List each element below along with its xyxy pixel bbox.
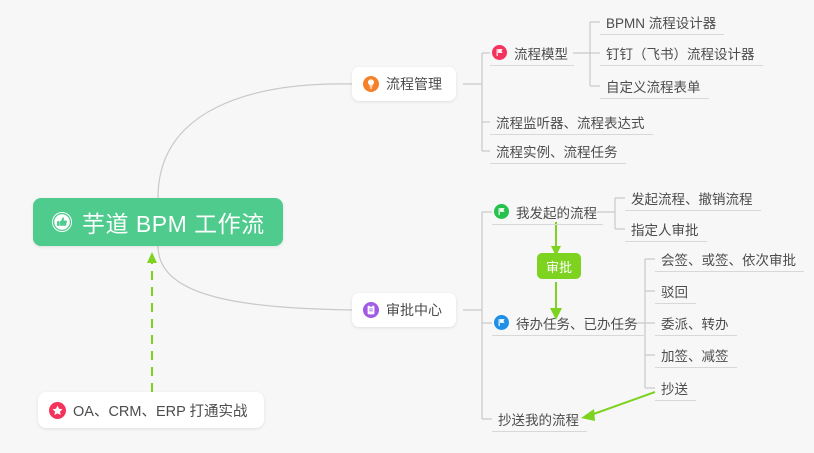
link-root-to-shenpizhongxin — [158, 246, 352, 310]
leaf-node-reject[interactable]: 驳回 — [655, 278, 696, 304]
root-label: 芋道 BPM 工作流 — [82, 205, 265, 239]
leaf-label-cc: 抄送 — [661, 378, 688, 398]
leaf-node-custom-form[interactable]: 自定义流程表单 — [600, 73, 709, 99]
leaf-label-add-remove-sign: 加签、减签 — [661, 345, 729, 365]
arrowhead-callout-to-root — [147, 252, 157, 263]
flag-icon — [492, 45, 507, 60]
leaf-node-instance-task[interactable]: 流程实例、流程任务 — [490, 138, 626, 164]
clipboard-icon — [363, 302, 379, 318]
leaf-label-bpmn-designer: BPMN 流程设计器 — [606, 12, 716, 32]
leaf-label-cc-to-me: 抄送我的流程 — [498, 409, 579, 429]
leaf-node-delegate-transfer[interactable]: 委派、转办 — [655, 310, 737, 336]
callout-label-integration: OA、CRM、ERP 打通实战 — [73, 400, 248, 421]
leaf-label-custom-form: 自定义流程表单 — [606, 76, 701, 96]
branch-node-liuchengguanli[interactable]: 流程管理 — [352, 67, 456, 101]
leaf-node-listener-expression[interactable]: 流程监听器、流程表达式 — [490, 109, 653, 135]
link-root-to-liuchengguanli — [158, 84, 352, 198]
leaf-node-countersign[interactable]: 会签、或签、依次审批 — [655, 246, 804, 272]
leaf-label-listener-expression: 流程监听器、流程表达式 — [496, 112, 645, 132]
leaf-node-assignee-approval[interactable]: 指定人审批 — [625, 216, 707, 242]
sub-node-daibanyibanrenwu[interactable]: 待办任务、已办任务 — [492, 310, 644, 336]
flag-icon — [494, 315, 509, 330]
leaf-node-cc-to-me[interactable]: 抄送我的流程 — [492, 406, 587, 432]
thumbs-up-icon — [51, 211, 73, 233]
arrow-chaosong-to-chaosongwode — [588, 392, 655, 416]
leaf-node-bpmn-designer[interactable]: BPMN 流程设计器 — [600, 9, 724, 35]
tag-shenpi[interactable]: 审批 — [537, 253, 581, 279]
sub-label-liuchengmoxing: 流程模型 — [514, 43, 568, 63]
callout-node-integration[interactable]: OA、CRM、ERP 打通实战 — [38, 392, 264, 428]
leaf-node-dingtalk-designer[interactable]: 钉钉（飞书）流程设计器 — [600, 40, 763, 66]
root-node[interactable]: 芋道 BPM 工作流 — [33, 198, 283, 246]
leaf-label-reject: 驳回 — [661, 281, 688, 301]
branch-label-liuchengguanli: 流程管理 — [386, 74, 442, 94]
mindmap-canvas: 芋道 BPM 工作流 流程管理 流程模型 BPMN 流程设计器 — [0, 0, 814, 453]
branch-label-shenpizhongxin: 审批中心 — [386, 300, 442, 320]
star-icon — [49, 402, 66, 419]
leaf-label-assignee-approval: 指定人审批 — [631, 219, 699, 239]
lightbulb-icon — [363, 76, 379, 92]
flag-icon — [494, 204, 509, 219]
sub-node-liuchengmoxing[interactable]: 流程模型 — [490, 40, 574, 66]
leaf-node-start-cancel-process[interactable]: 发起流程、撤销流程 — [625, 185, 761, 211]
tag-label-shenpi: 审批 — [546, 257, 572, 276]
sub-node-wofaqideliucheng[interactable]: 我发起的流程 — [492, 199, 603, 225]
leaf-label-instance-task: 流程实例、流程任务 — [496, 141, 618, 161]
sub-label-daibanyibanrenwu: 待办任务、已办任务 — [516, 313, 638, 333]
sub-label-wofaqideliucheng: 我发起的流程 — [516, 202, 597, 222]
branch-node-shenpizhongxin[interactable]: 审批中心 — [352, 293, 456, 327]
leaf-label-dingtalk-designer: 钉钉（飞书）流程设计器 — [606, 43, 755, 63]
leaf-label-countersign: 会签、或签、依次审批 — [661, 249, 796, 269]
leaf-node-add-remove-sign[interactable]: 加签、减签 — [655, 342, 737, 368]
leaf-label-delegate-transfer: 委派、转办 — [661, 313, 729, 333]
leaf-label-start-cancel-process: 发起流程、撤销流程 — [631, 188, 753, 208]
leaf-node-cc[interactable]: 抄送 — [655, 375, 696, 401]
